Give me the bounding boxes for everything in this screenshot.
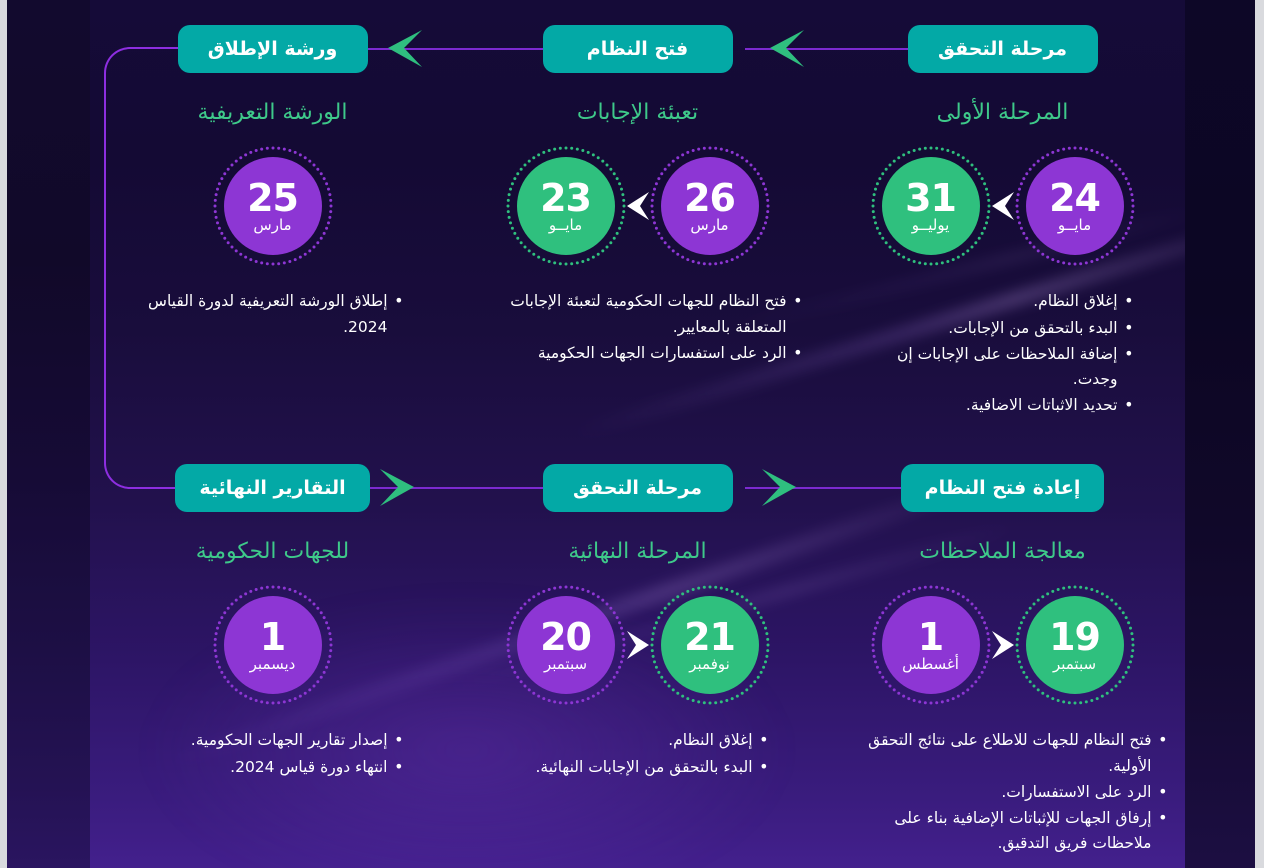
bullet-item: البدء بالتحقق من الإجابات النهائية. — [507, 755, 769, 780]
bullet-list-inner: إغلاق النظام.البدء بالتحقق من الإجابات.إ… — [872, 289, 1134, 418]
stage-subtitle: للجهات الحكومية — [196, 539, 349, 565]
timeline-column: فتح النظامتعبئة الإجابات26مارس23مايــوفت… — [455, 0, 820, 419]
bullet-item: فتح النظام للجهات الحكومية لتعبئة الإجاب… — [473, 289, 803, 339]
date-circle-group: 24مايــو31يوليــو — [870, 145, 1136, 267]
bullet-item: الرد على الاستفسارات. — [838, 780, 1168, 805]
dotted-ring — [212, 145, 334, 267]
timeline-column: ورشة الإطلاقالورشة التعريفية25مارسإطلاق … — [90, 0, 455, 419]
date-circle[interactable]: 1ديسمبر — [212, 584, 334, 706]
date-circle-group: 25مارس — [212, 145, 334, 267]
date-circle[interactable]: 26مارس — [649, 145, 771, 267]
date-circle-group: 1ديسمبر — [212, 584, 334, 706]
stage-bullet-list: إطلاق الورشة التعريفية لدورة القياس 2024… — [90, 289, 455, 340]
dotted-ring — [212, 584, 334, 706]
date-circle-group: 19سبتمبر1أغسطس — [870, 584, 1136, 706]
date-circle[interactable]: 24مايــو — [1014, 145, 1136, 267]
dotted-ring — [1014, 584, 1136, 706]
timeline-row-bottom: التقارير النهائيةللجهات الحكومية1ديسمبرإ… — [90, 439, 1185, 857]
stage-pill-system-reopen[interactable]: إعادة فتح النظام — [901, 464, 1105, 512]
timeline-column: مرحلة التحققالمرحلة النهائية21نوفمبر20سب… — [455, 439, 820, 857]
bullet-item: الرد على استفسارات الجهات الحكومية — [473, 341, 803, 366]
stage-pill-system-open[interactable]: فتح النظام — [543, 25, 733, 73]
stage-pill-final-reports[interactable]: التقارير النهائية — [175, 464, 369, 512]
infographic-canvas: ورشة الإطلاقالورشة التعريفية25مارسإطلاق … — [0, 0, 1264, 868]
stage-pill-verification-stage-final[interactable]: مرحلة التحقق — [543, 464, 733, 512]
bullet-list-inner: إطلاق الورشة التعريفية لدورة القياس 2024… — [142, 289, 404, 339]
bullet-item: إطلاق الورشة التعريفية لدورة القياس 2024… — [142, 289, 404, 339]
dotted-ring — [870, 584, 992, 706]
bullet-item: انتهاء دورة قياس 2024. — [142, 755, 404, 780]
date-circle[interactable]: 25مارس — [212, 145, 334, 267]
bullet-item: إغلاق النظام. — [872, 289, 1134, 314]
stage-bullet-list: إغلاق النظام.البدء بالتحقق من الإجابات ا… — [455, 728, 820, 780]
dotted-ring — [505, 145, 627, 267]
bullet-item: إرفاق الجهات للإثباتات الإضافية بناء على… — [838, 806, 1168, 856]
date-circle[interactable]: 31يوليــو — [870, 145, 992, 267]
timeline-row-top: ورشة الإطلاقالورشة التعريفية25مارسإطلاق … — [90, 0, 1185, 419]
date-circle[interactable]: 23مايــو — [505, 145, 627, 267]
bullet-list-inner: فتح النظام للجهات للاطلاع على نتائج التح… — [838, 728, 1168, 856]
stage-bullet-list: فتح النظام للجهات الحكومية لتعبئة الإجاب… — [455, 289, 820, 366]
bullet-list-inner: فتح النظام للجهات الحكومية لتعبئة الإجاب… — [473, 289, 803, 365]
date-circle-group: 21نوفمبر20سبتمبر — [505, 584, 771, 706]
dotted-ring — [1014, 145, 1136, 267]
bullet-item: تحديد الاثباتات الاضافية. — [872, 393, 1134, 418]
timeline-column: التقارير النهائيةللجهات الحكومية1ديسمبرإ… — [90, 439, 455, 857]
background-left-band — [7, 0, 90, 868]
timeline-column: مرحلة التحققالمرحلة الأولى24مايــو31يولي… — [820, 0, 1185, 419]
bullet-item: إضافة الملاحظات على الإجابات إن وجدت. — [872, 342, 1134, 392]
date-circle[interactable]: 21نوفمبر — [649, 584, 771, 706]
bullet-item: البدء بالتحقق من الإجابات. — [872, 316, 1134, 341]
date-circle[interactable]: 19سبتمبر — [1014, 584, 1136, 706]
bullet-item: إغلاق النظام. — [507, 728, 769, 753]
stage-bullet-list: فتح النظام للجهات للاطلاع على نتائج التح… — [820, 728, 1185, 857]
stage-subtitle: تعبئة الإجابات — [577, 100, 698, 126]
stage-bullet-list: إغلاق النظام.البدء بالتحقق من الإجابات.إ… — [820, 289, 1185, 419]
dotted-ring — [649, 145, 771, 267]
stage-subtitle: المرحلة الأولى — [937, 100, 1069, 126]
date-circle[interactable]: 20سبتمبر — [505, 584, 627, 706]
dotted-ring — [505, 584, 627, 706]
stage-subtitle: معالجة الملاحظات — [919, 539, 1086, 565]
dotted-ring — [649, 584, 771, 706]
date-circle-group: 26مارس23مايــو — [505, 145, 771, 267]
date-circle[interactable]: 1أغسطس — [870, 584, 992, 706]
stage-pill-verification-stage[interactable]: مرحلة التحقق — [908, 25, 1098, 73]
stage-subtitle: المرحلة النهائية — [568, 539, 706, 565]
stage-subtitle: الورشة التعريفية — [198, 100, 348, 126]
stage-pill-launch-workshop[interactable]: ورشة الإطلاق — [178, 25, 368, 73]
dotted-ring — [870, 145, 992, 267]
background-right-band — [1185, 0, 1255, 868]
bullet-list-inner: إصدار تقارير الجهات الحكومية.انتهاء دورة… — [142, 728, 404, 779]
timeline-column: إعادة فتح النظاممعالجة الملاحظات19سبتمبر… — [820, 439, 1185, 857]
stage-bullet-list: إصدار تقارير الجهات الحكومية.انتهاء دورة… — [90, 728, 455, 780]
bullet-item: إصدار تقارير الجهات الحكومية. — [142, 728, 404, 753]
bullet-list-inner: إغلاق النظام.البدء بالتحقق من الإجابات ا… — [507, 728, 769, 779]
bullet-item: فتح النظام للجهات للاطلاع على نتائج التح… — [838, 728, 1168, 778]
